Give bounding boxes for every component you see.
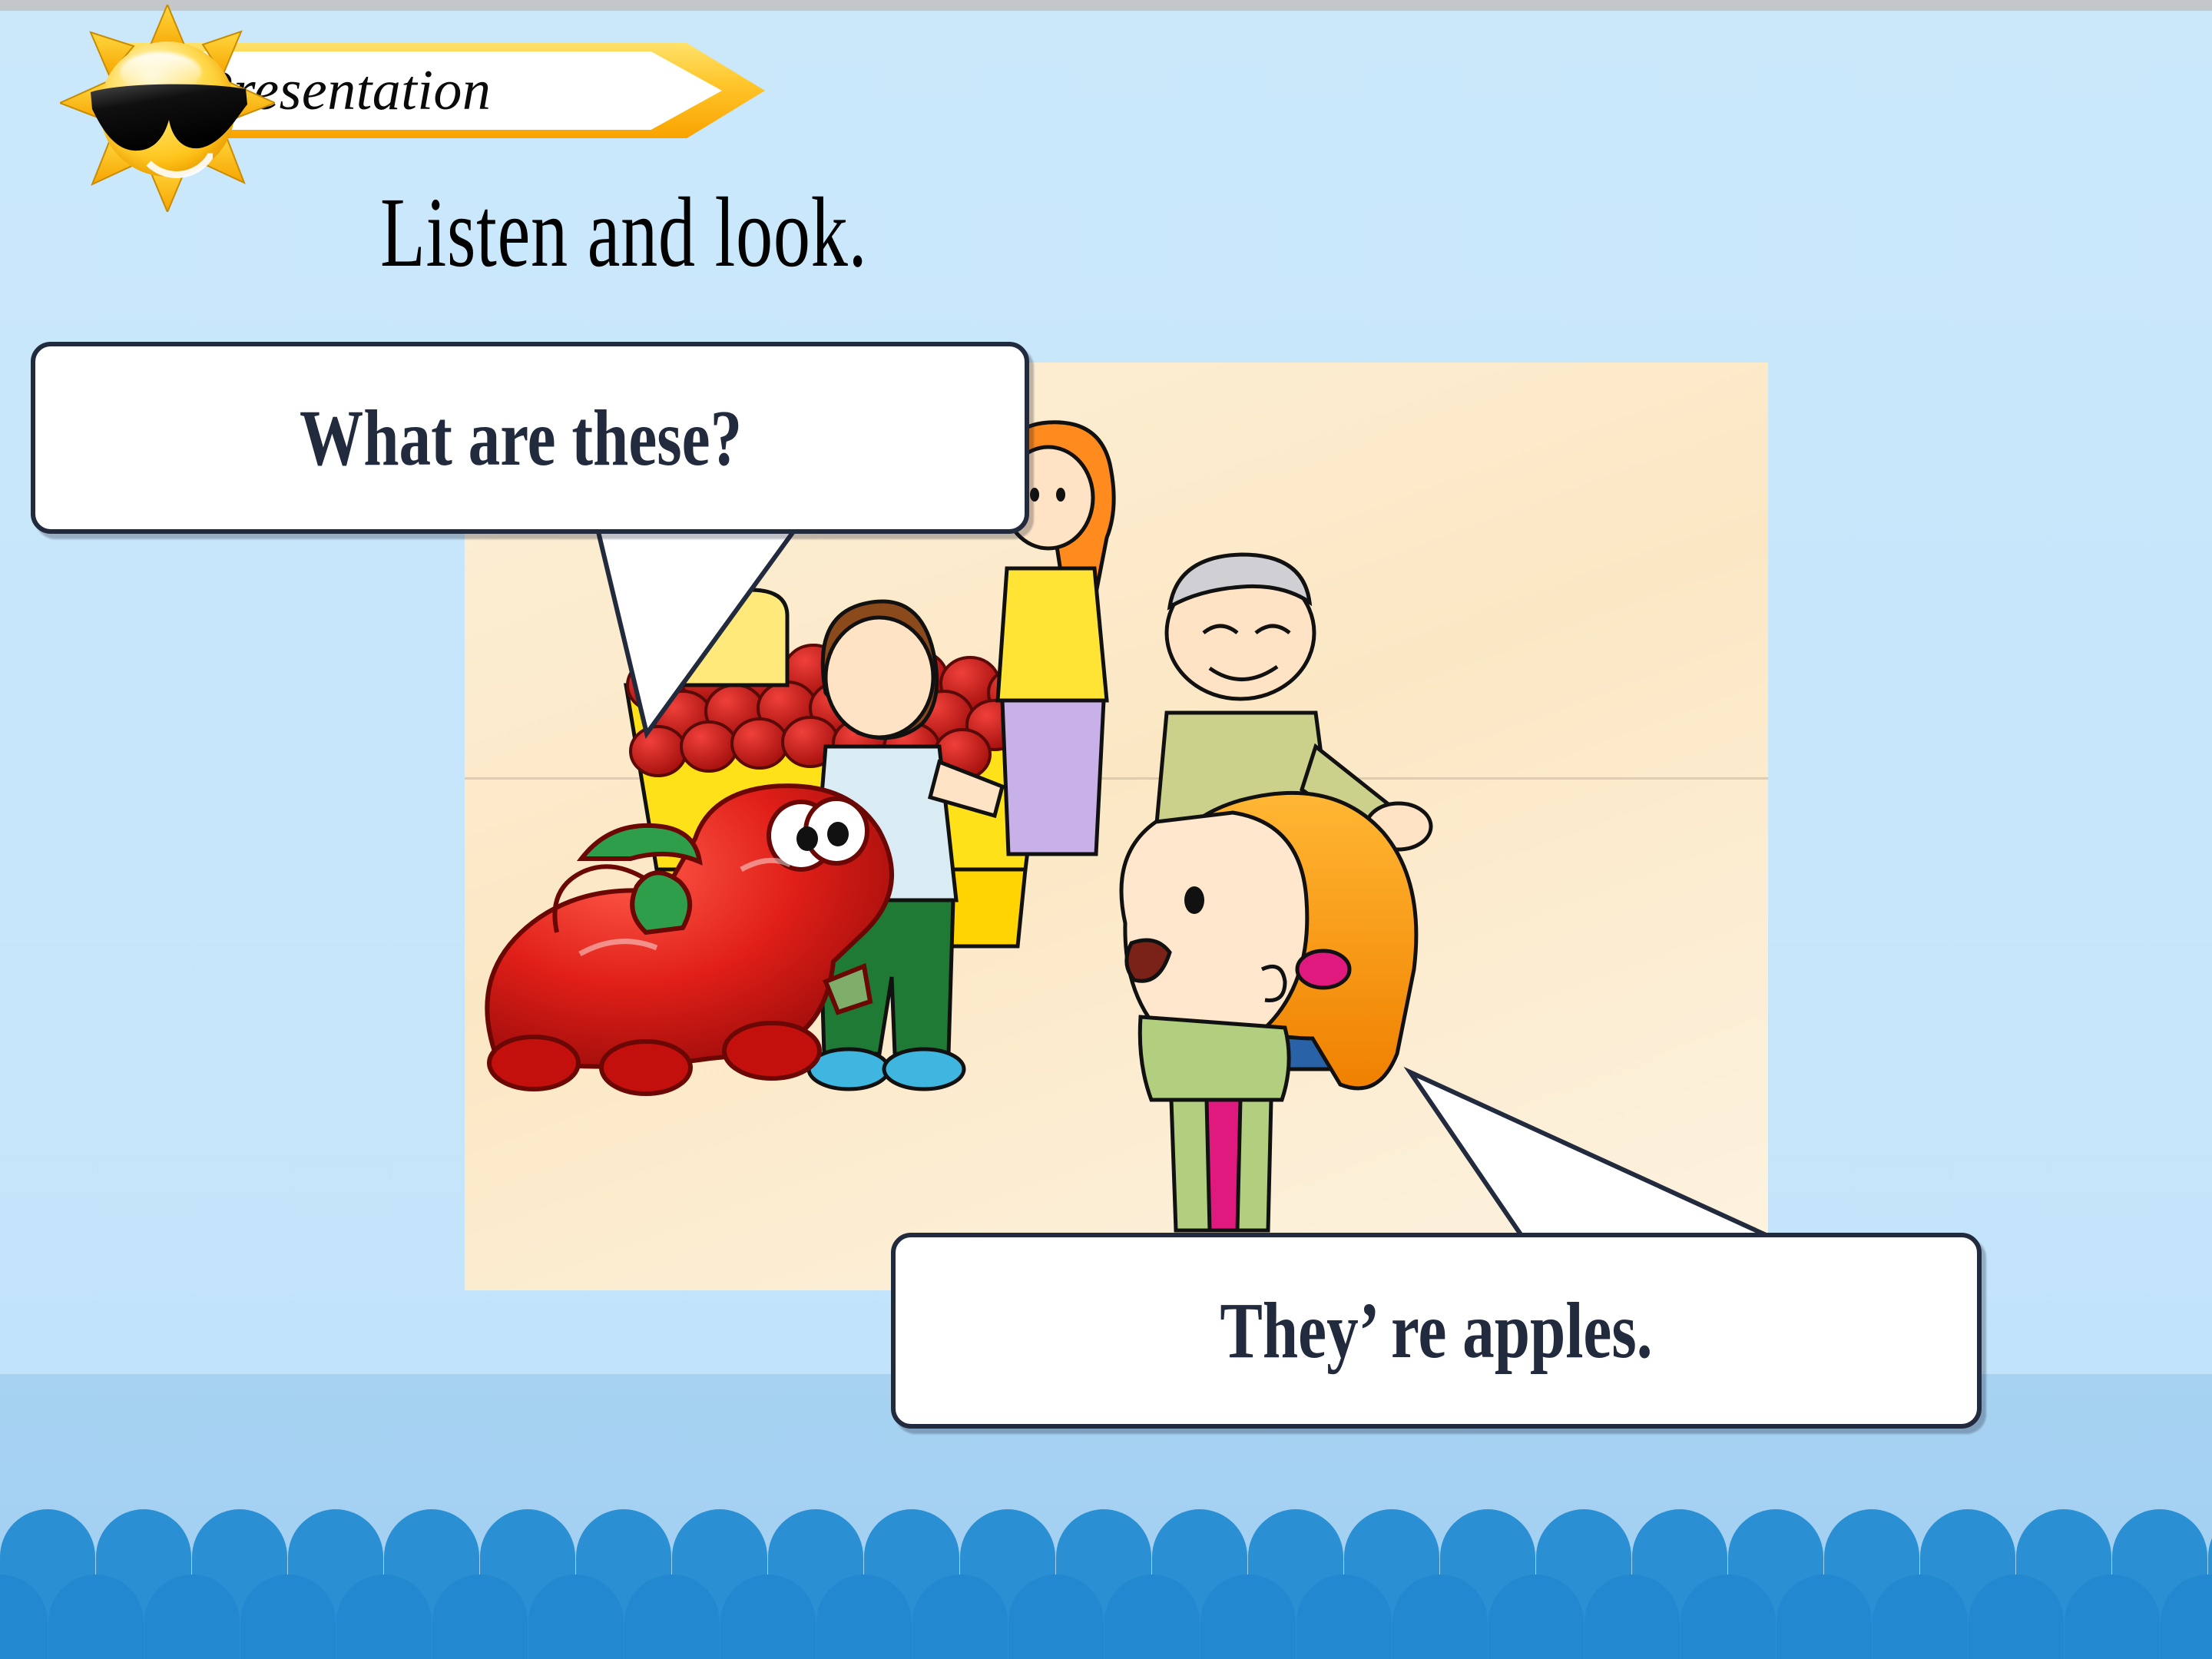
speech-bubble-answer[interactable]: They’ re apples. <box>891 1233 1982 1429</box>
speech-bubble-question-text: What are these? <box>300 392 742 484</box>
arch-shape <box>2065 1575 2160 1659</box>
speech-bubble-answer-text: They’ re apples. <box>1220 1285 1652 1376</box>
arch-shape <box>48 1575 144 1659</box>
arch-shape <box>144 1575 240 1659</box>
arch-shape <box>0 1575 48 1659</box>
arch-shape <box>1392 1575 1488 1659</box>
arch-shape <box>1969 1575 2064 1659</box>
arch-shape <box>1777 1575 1872 1659</box>
arch-shape <box>1873 1575 1968 1659</box>
arch-shape <box>1200 1575 1296 1659</box>
arch-row-front <box>0 1575 2212 1659</box>
page-title: Listen and look. <box>380 175 867 290</box>
arch-shape <box>528 1575 624 1659</box>
arch-shape <box>1681 1575 1776 1659</box>
arch-shape <box>1008 1575 1104 1659</box>
arch-shape <box>2161 1575 2212 1659</box>
arch-shape <box>816 1575 912 1659</box>
top-edge-strip <box>0 0 2212 11</box>
speech-bubble-question[interactable]: What are these? <box>31 342 1029 534</box>
arch-shape <box>720 1575 816 1659</box>
speech-bubble-tail-question <box>584 503 937 757</box>
arch-shape <box>432 1575 528 1659</box>
arch-shape <box>240 1575 336 1659</box>
arch-shape <box>624 1575 720 1659</box>
sunglasses-icon <box>88 81 257 164</box>
arch-shape <box>1488 1575 1584 1659</box>
sun-sunglasses-icon <box>60 5 275 212</box>
arch-shape <box>336 1575 432 1659</box>
arch-shape <box>1104 1575 1200 1659</box>
arch-shape <box>1296 1575 1392 1659</box>
slide-canvas: Presentation <box>0 0 2212 1659</box>
arch-shape <box>1584 1575 1680 1659</box>
arch-shape <box>912 1575 1008 1659</box>
